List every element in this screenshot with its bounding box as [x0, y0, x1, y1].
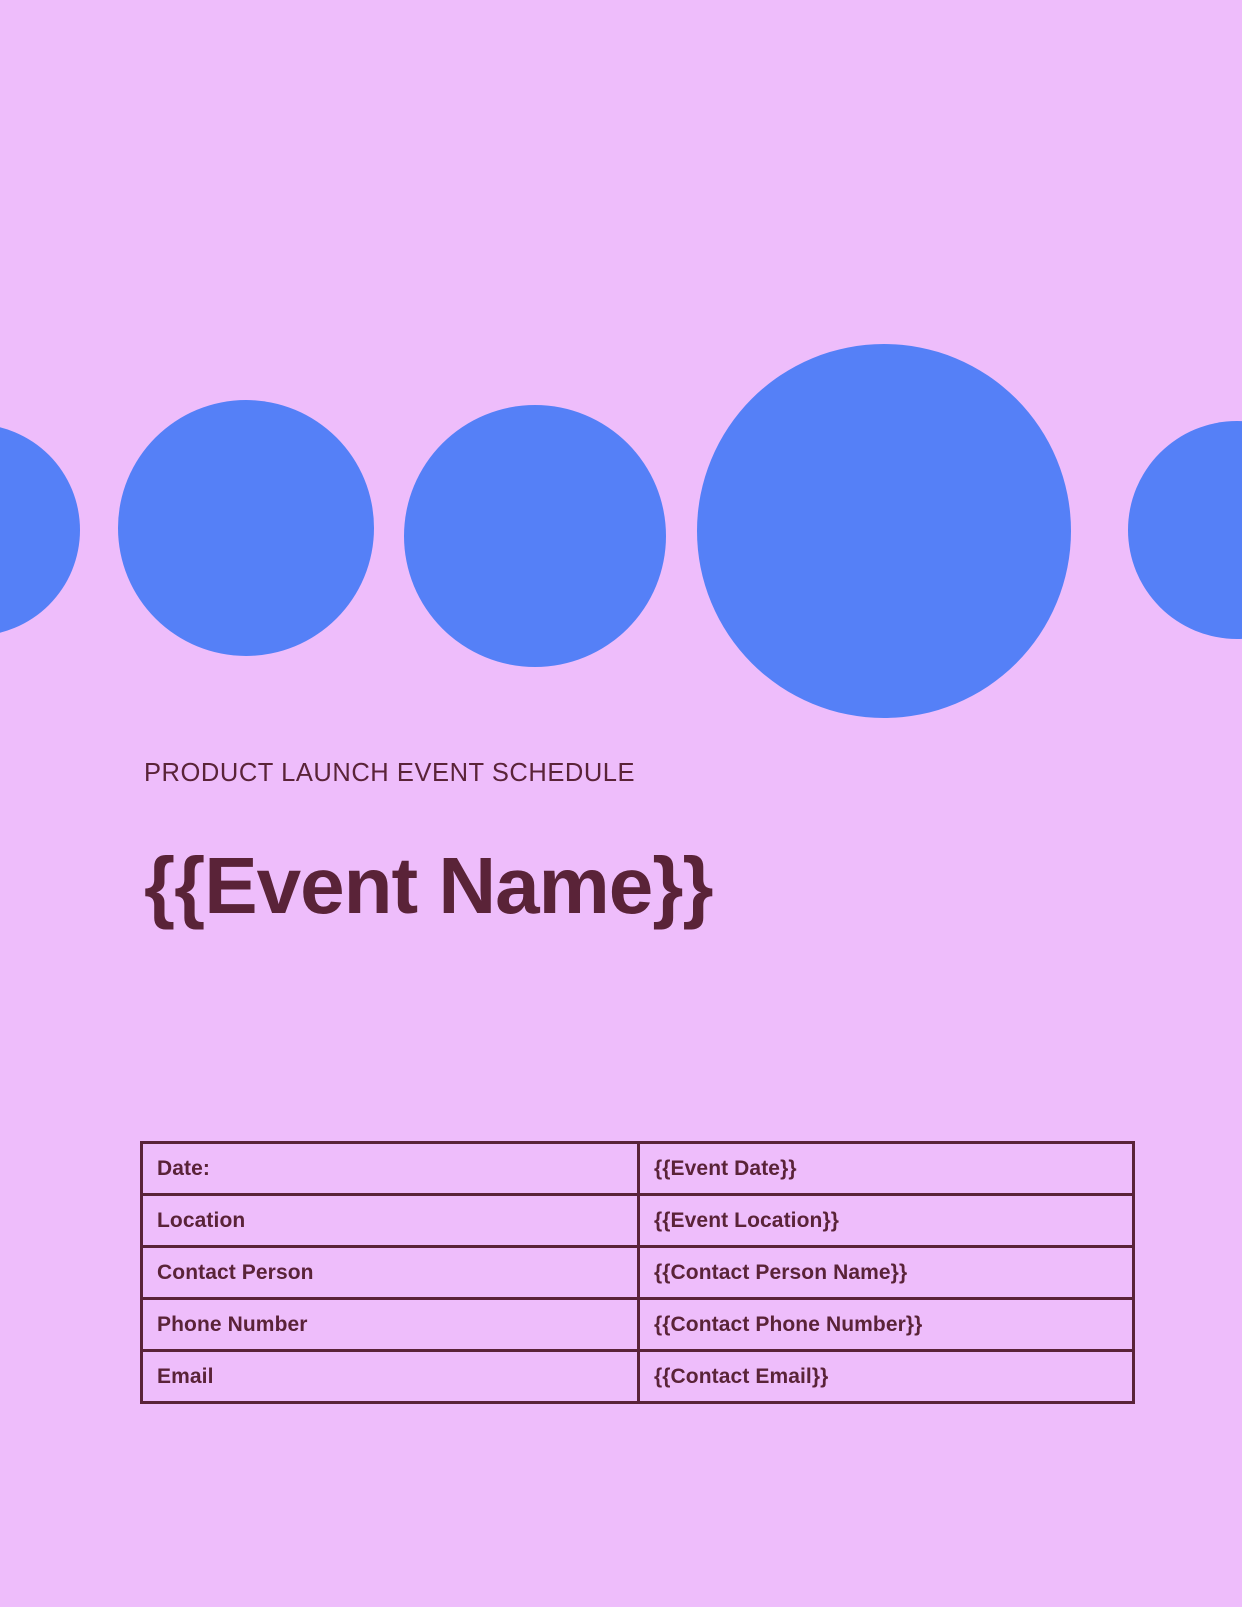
page-title: {{Event Name}}	[144, 840, 713, 932]
table-row: Contact Person {{Contact Person Name}}	[142, 1247, 1134, 1299]
table-row: Date: {{Event Date}}	[142, 1143, 1134, 1195]
event-schedule-page: PRODUCT LAUNCH EVENT SCHEDULE {{Event Na…	[0, 0, 1242, 1607]
decorative-circle-band	[0, 0, 1242, 760]
decorative-circle-4	[697, 344, 1071, 718]
page-kicker: PRODUCT LAUNCH EVENT SCHEDULE	[144, 759, 635, 788]
row-label-contact-person: Contact Person	[142, 1247, 639, 1299]
decorative-circle-5	[1128, 421, 1242, 639]
decorative-circle-1	[0, 424, 80, 636]
row-label-date: Date:	[142, 1143, 639, 1195]
decorative-circle-3	[404, 405, 666, 667]
row-value-date[interactable]: {{Event Date}}	[639, 1143, 1134, 1195]
table-row: Location {{Event Location}}	[142, 1195, 1134, 1247]
row-label-location: Location	[142, 1195, 639, 1247]
row-value-phone-number[interactable]: {{Contact Phone Number}}	[639, 1299, 1134, 1351]
row-value-contact-person[interactable]: {{Contact Person Name}}	[639, 1247, 1134, 1299]
row-value-location[interactable]: {{Event Location}}	[639, 1195, 1134, 1247]
event-info-table: Date: {{Event Date}} Location {{Event Lo…	[140, 1141, 1135, 1404]
row-label-email: Email	[142, 1351, 639, 1403]
row-value-email[interactable]: {{Contact Email}}	[639, 1351, 1134, 1403]
row-label-phone-number: Phone Number	[142, 1299, 639, 1351]
table-row: Email {{Contact Email}}	[142, 1351, 1134, 1403]
event-info-table-body: Date: {{Event Date}} Location {{Event Lo…	[142, 1143, 1134, 1403]
decorative-circle-2	[118, 400, 374, 656]
table-row: Phone Number {{Contact Phone Number}}	[142, 1299, 1134, 1351]
